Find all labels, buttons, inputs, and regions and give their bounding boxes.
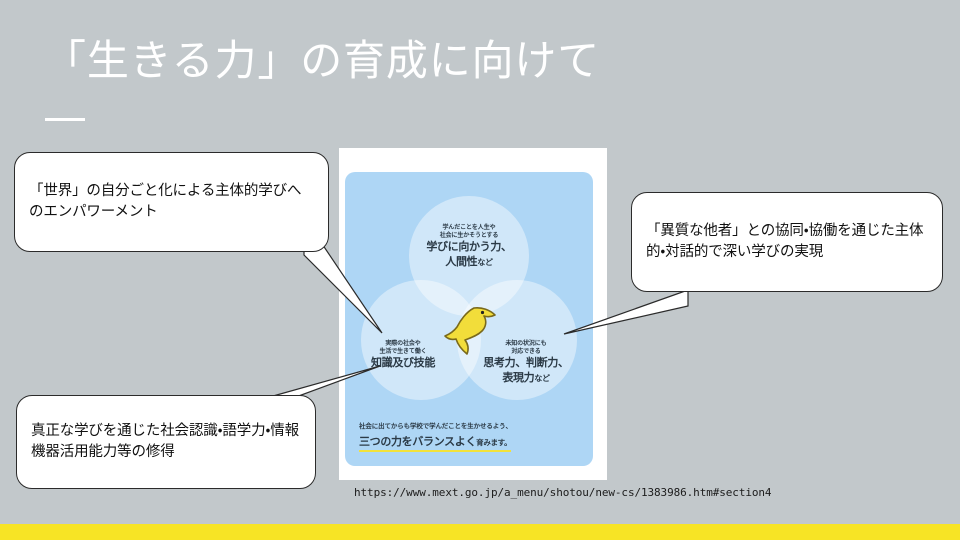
figure-caption-lead: 社会に出てからも学校で学んだことを生かせるよう、 (359, 420, 585, 430)
callout-right[interactable]: 「異質な他者」との協同・協働を通じた主体的・対話的で深い学びの実現 (631, 192, 943, 292)
callout-tail-right (560, 288, 690, 348)
page-title: 「生きる力」の育成に向けて (44, 38, 744, 88)
figure-caption-main: 三つの力をバランスよく育みます。 (359, 433, 511, 452)
slide-canvas: 「生きる力」の育成に向けて 学んだことを人生や 社会に生かそうとする 学びに向か… (0, 0, 960, 540)
title-underline-rule (45, 118, 85, 121)
venn-label-right-main1: 思考力、判断力、 (467, 356, 585, 370)
bird-illustration-icon (441, 300, 501, 356)
bottom-accent-bar (0, 524, 960, 540)
venn-label-top-main2-text: 人間性 (445, 255, 477, 268)
venn-label-right-main2-text: 表現力 (502, 371, 534, 384)
callout-left-bottom-text: 真正な学びを通じた社会認識・語学力・情報機器活用能力等の修得 (17, 421, 315, 462)
callout-right-text: 「異質な他者」との協同・協働を通じた主体的・対話的で深い学びの実現 (632, 221, 942, 262)
venn-label-right-suffix: など (534, 374, 549, 383)
callout-left-top-text: 「世界」の自分ごと化による主体的学びへのエンパワーメント (15, 181, 328, 222)
venn-label-right-main2: 表現力など (467, 371, 585, 385)
venn-label-top-suffix: など (477, 258, 492, 267)
callout-left-top[interactable]: 「世界」の自分ごと化による主体的学びへのエンパワーメント (14, 152, 329, 252)
figure-caption: 社会に出てからも学校で学んだことを生かせるよう、 三つの力をバランスよく育みます… (359, 420, 585, 452)
callout-left-bottom[interactable]: 真正な学びを通じた社会認識・語学力・情報機器活用能力等の修得 (16, 395, 316, 489)
source-url-link[interactable]: https://www.mext.go.jp/a_menu/shotou/new… (354, 486, 771, 499)
figure-caption-suffix: 育みます。 (476, 438, 511, 447)
figure-caption-main-text: 三つの力をバランスよく (359, 435, 476, 448)
